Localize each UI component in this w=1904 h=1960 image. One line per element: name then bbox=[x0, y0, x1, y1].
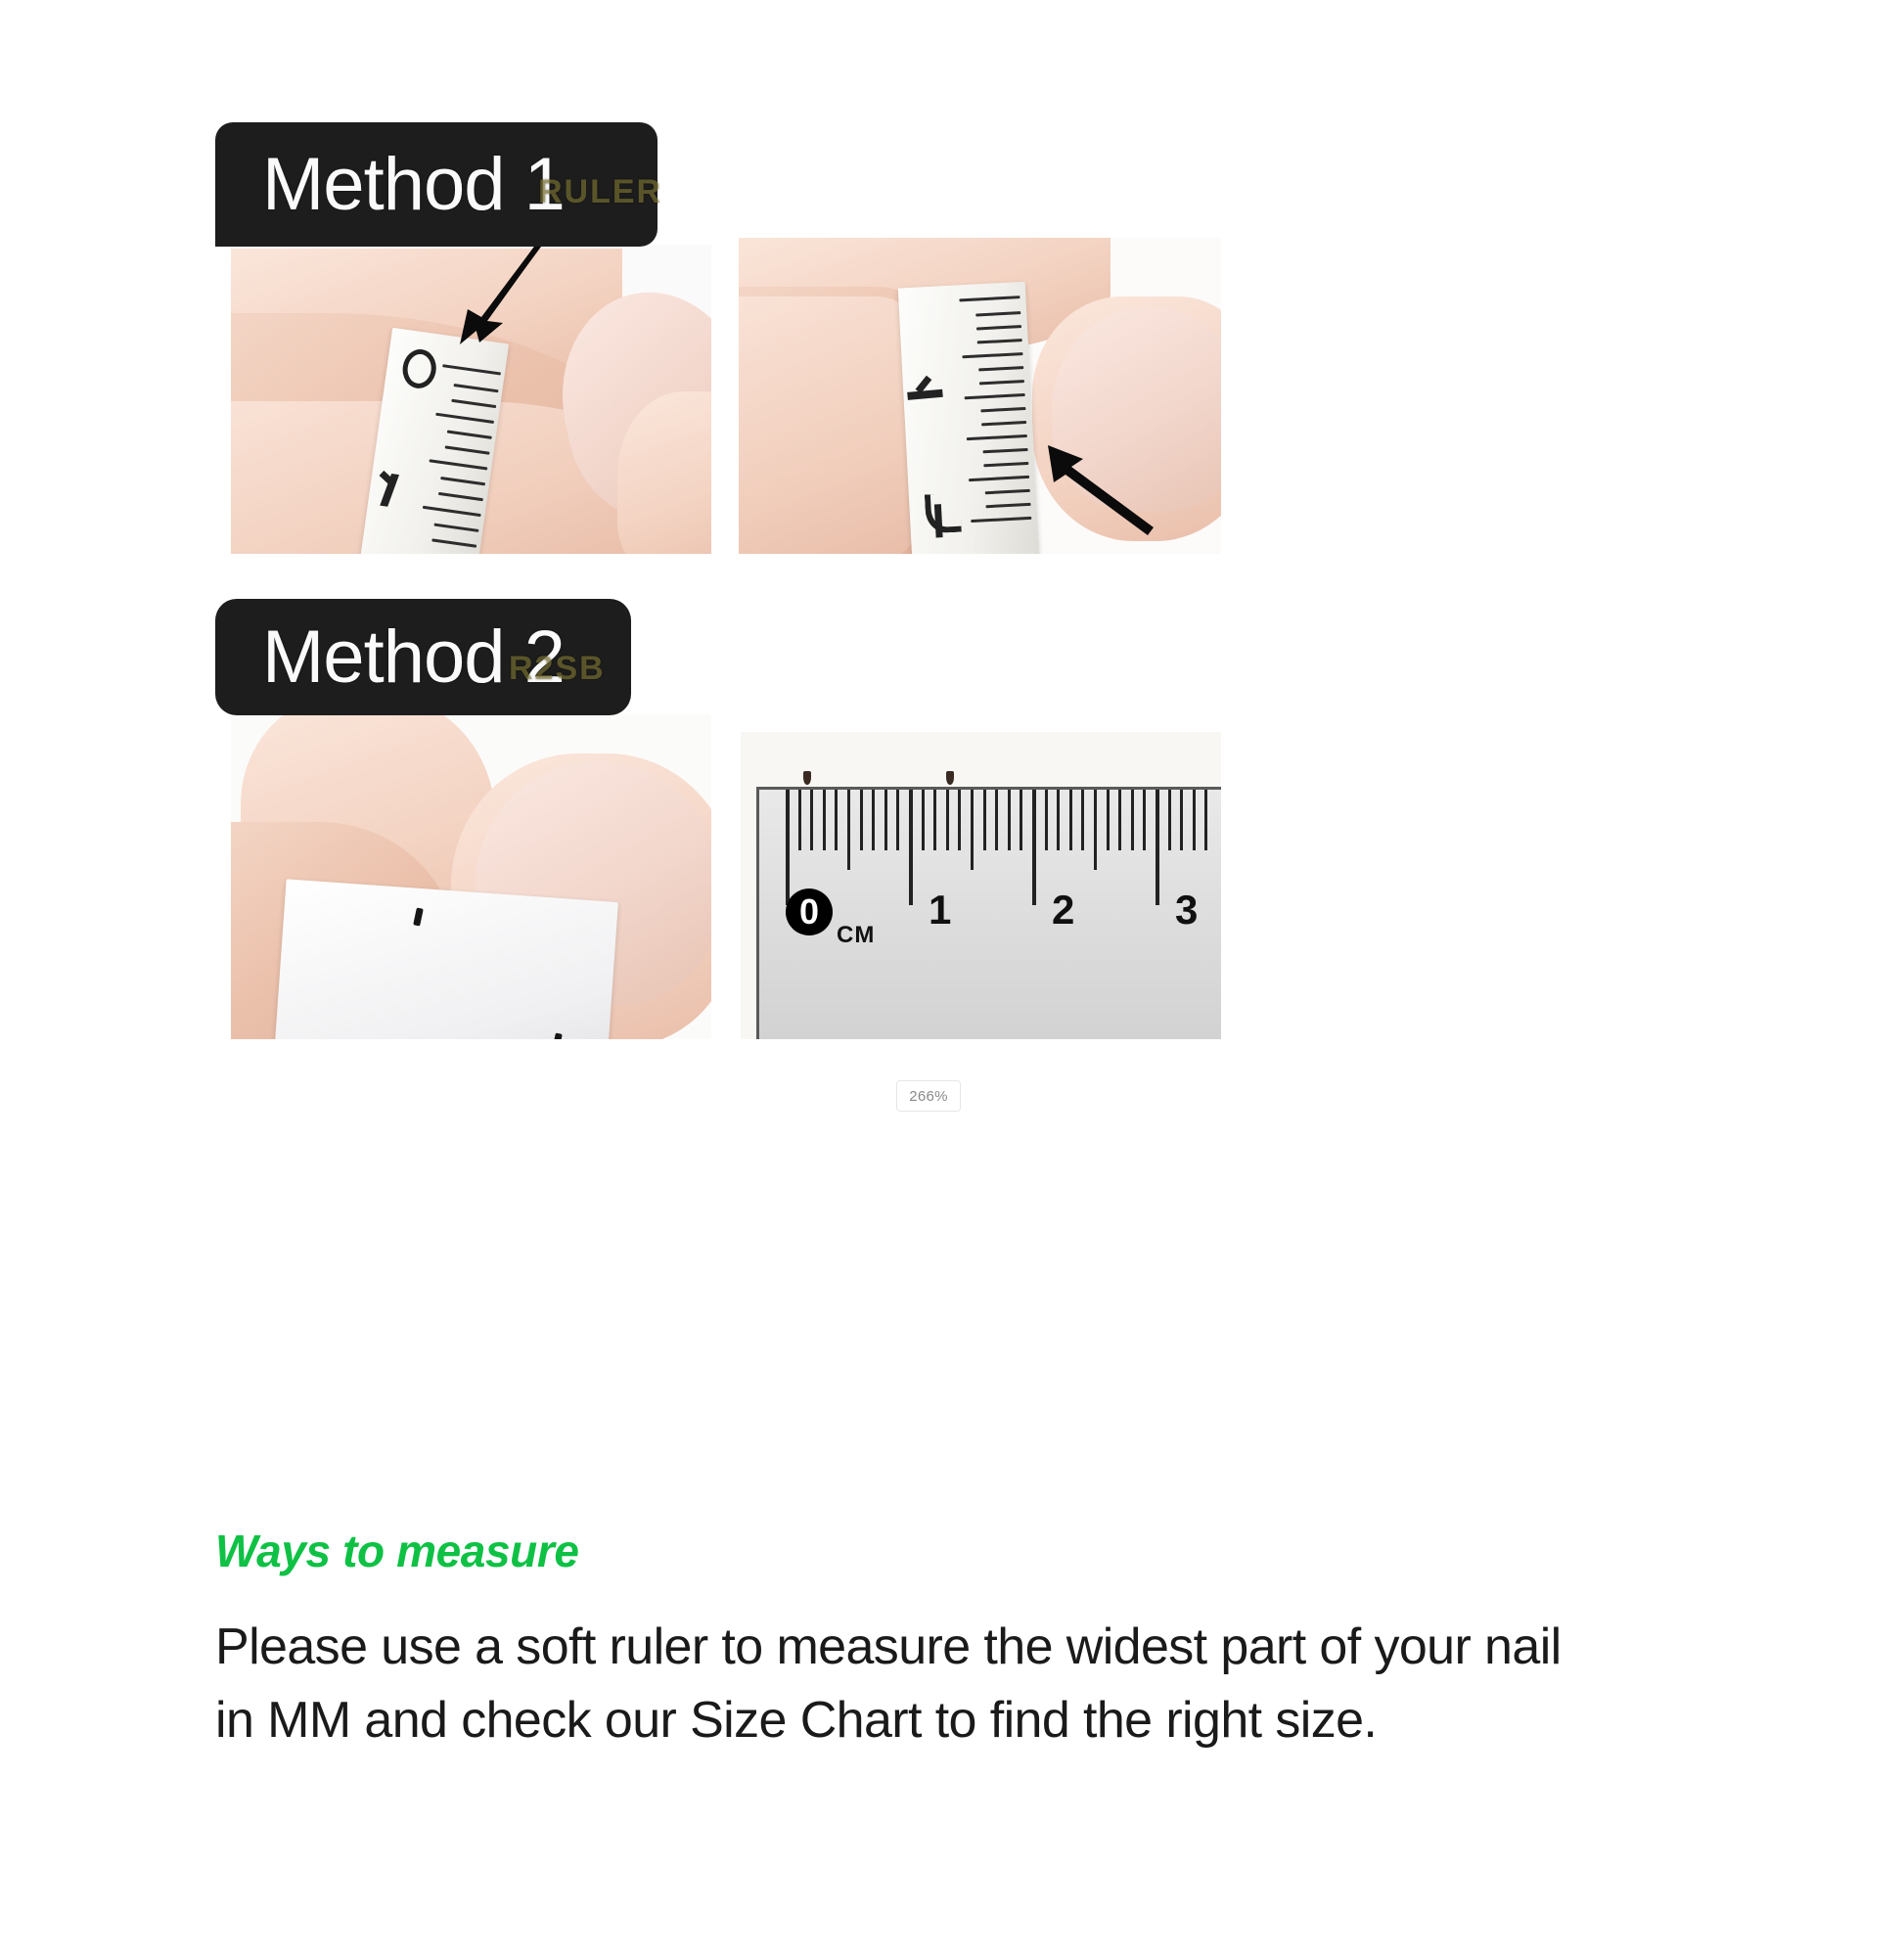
ruler-tick bbox=[1131, 790, 1134, 850]
method-2-photo-2[interactable]: 0 CM 1 2 3 bbox=[741, 732, 1221, 1039]
ruler-tick bbox=[1156, 790, 1159, 905]
ruler-tick bbox=[983, 790, 986, 850]
zoom-level-indicator[interactable]: 266% bbox=[896, 1080, 961, 1112]
ruler-tick bbox=[1094, 790, 1097, 870]
ruler-tick bbox=[971, 790, 974, 870]
method-1-badge: Method 1 RULER bbox=[215, 122, 657, 247]
ruler-tick bbox=[1032, 790, 1036, 905]
method-1-badge-label: Method 1 bbox=[262, 142, 565, 227]
ruler-tick bbox=[798, 790, 801, 850]
section-heading-ways-to-measure: Ways to measure bbox=[215, 1525, 579, 1577]
ruler-tick bbox=[1168, 790, 1171, 850]
ruler-number-3: 3 bbox=[1175, 887, 1198, 934]
ruler-tick bbox=[1008, 790, 1011, 850]
ruler-tick bbox=[995, 790, 998, 850]
ruler-tick bbox=[884, 790, 887, 850]
ruler-tick bbox=[1069, 790, 1072, 850]
ruler-tick bbox=[860, 790, 863, 850]
method-2-photo-1[interactable] bbox=[231, 714, 711, 1039]
ruler-tick bbox=[933, 790, 936, 850]
measure-instructions-paragraph: Please use a soft ruler to measure the w… bbox=[215, 1611, 1605, 1758]
ruler-tick bbox=[1045, 790, 1048, 850]
page-root: Method 1 RULER 0 CM 1 2 3 Method 2 bbox=[0, 0, 1904, 1960]
ruler-number-2: 2 bbox=[1052, 887, 1074, 934]
ruler-tick bbox=[1193, 790, 1196, 850]
ruler-tick bbox=[1118, 790, 1121, 850]
ruler-tick bbox=[1180, 790, 1183, 850]
ruler-tick bbox=[1020, 790, 1022, 850]
ruler-tick bbox=[1081, 790, 1084, 850]
ruler-tick bbox=[872, 790, 875, 850]
ruler-tick bbox=[946, 790, 949, 850]
ruler-zero-label: 0 bbox=[799, 891, 819, 933]
ruler-tick bbox=[1057, 790, 1060, 850]
ruler-tick bbox=[922, 790, 925, 850]
ruler-nub bbox=[803, 771, 811, 785]
ruler-tick bbox=[1107, 790, 1110, 850]
ruler-tick bbox=[823, 790, 826, 850]
ruler-tick bbox=[896, 790, 899, 850]
pointer-arrow-icon bbox=[1022, 433, 1159, 541]
ruler-tick bbox=[1143, 790, 1146, 850]
ruler-tick bbox=[786, 790, 790, 905]
ruler-tick bbox=[835, 790, 838, 850]
ruler-tick bbox=[958, 790, 961, 850]
method-1-photo-2[interactable] bbox=[739, 238, 1221, 554]
zoom-level-label: 266% bbox=[909, 1088, 948, 1105]
ruler-number-1: 1 bbox=[929, 887, 951, 934]
ruler-unit-label: CM bbox=[837, 922, 875, 949]
ruler-tick bbox=[909, 790, 913, 905]
method-2-badge-label: Method 2 bbox=[262, 615, 565, 700]
ruler-tick bbox=[810, 790, 813, 850]
pointer-arrow-icon bbox=[427, 245, 554, 358]
ruler-tick bbox=[847, 790, 850, 870]
ruler-nub bbox=[946, 771, 954, 785]
method-2-badge: Method 2 R2SB bbox=[215, 599, 631, 715]
ruler-tick bbox=[1204, 790, 1207, 850]
ruler-zero-marker: 0 bbox=[786, 889, 833, 935]
method-1-photo-1[interactable] bbox=[231, 245, 711, 554]
